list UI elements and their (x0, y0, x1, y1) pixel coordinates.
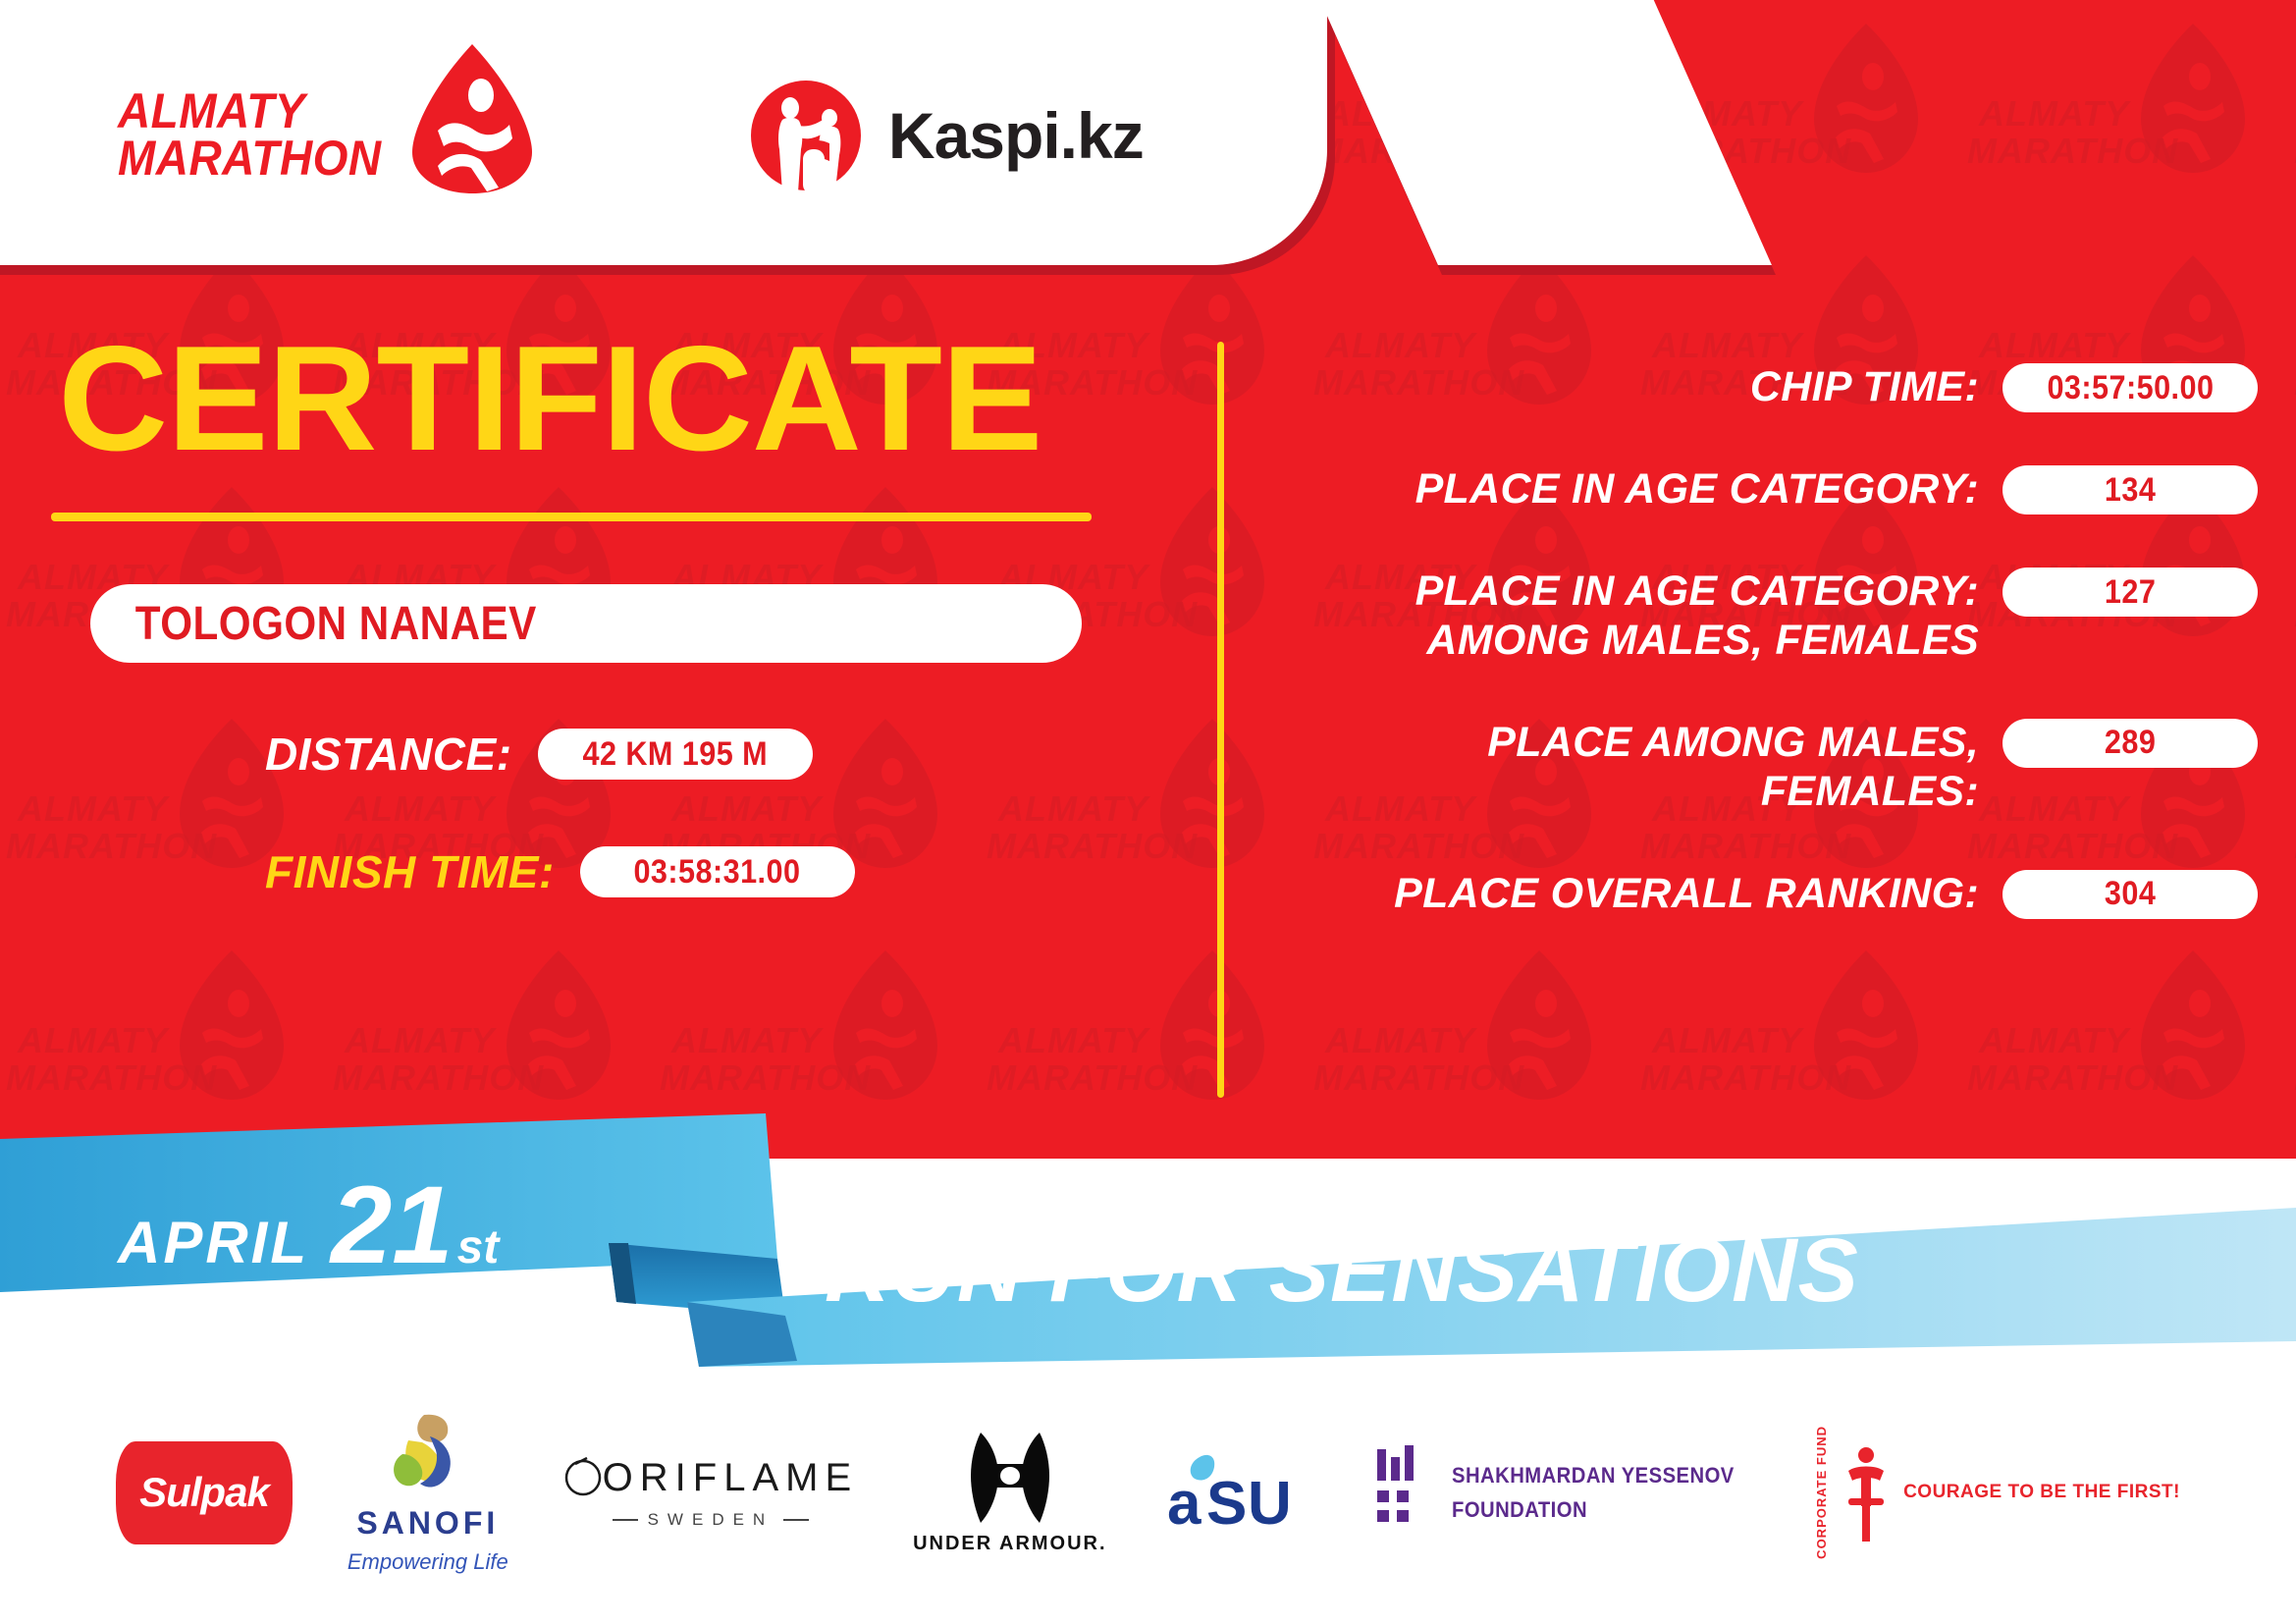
result-row: PLACE IN AGE CATEGORY:AMONG MALES, FEMAL… (1276, 566, 2258, 666)
result-value-pill: 304 (2002, 870, 2258, 919)
sponsor-under-armour: UNDER ARMOUR. (913, 1431, 1106, 1555)
header-logo-bar: ALMATY MARATHON (0, 0, 1276, 270)
event-day: 21 (331, 1170, 454, 1280)
sponsor-sulpak: Sulpak (116, 1441, 293, 1544)
oriflame-dash-left (613, 1519, 638, 1521)
svg-text:S: S (1206, 1470, 1247, 1538)
result-value: 127 (2105, 573, 2156, 612)
finish-time-value-pill: 03:58:31.00 (580, 846, 855, 897)
yessenov-subtext: FOUNDATION (1452, 1492, 1735, 1527)
result-label: PLACE IN AGE CATEGORY: (1276, 463, 2002, 514)
finish-time-row: FINISH TIME: 03:58:31.00 (265, 845, 1207, 898)
event-ribbon: APRIL 21 st RUN FOR SENSATIONS (0, 1110, 2296, 1394)
event-month: APRIL (118, 1209, 309, 1276)
result-value-pill: 03:57:50.00 (2002, 363, 2258, 412)
asu-icon: a S U (1161, 1445, 1318, 1540)
sponsor-sanofi: SANOFI Empowering Life (347, 1411, 508, 1575)
kaspi-logo: Kaspi.kz (747, 77, 1144, 194)
courage-label: COURAGE TO BE THE FIRST! (1903, 1479, 2180, 1507)
event-day-ordinal: st (457, 1220, 500, 1274)
sponsor-bar: Sulpak SANOFI Empowering Life ORIFLAME (0, 1414, 2296, 1571)
sulpak-label: Sulpak (139, 1469, 269, 1516)
certificate-left-column: CERTIFICATE TOLOGON NANAEV DISTANCE: 42 … (0, 324, 1207, 898)
distance-label: DISTANCE: (265, 728, 512, 781)
result-value: 03:57:50.00 (2047, 369, 2214, 407)
participant-name-field: TOLOGON NANAEV (90, 584, 1082, 663)
event-date: APRIL 21 st (118, 1170, 499, 1280)
results-column: CHIP TIME: 03:57:50.00 PLACE IN AGE CATE… (1276, 361, 2258, 970)
result-row: PLACE AMONG MALES,FEMALES: 289 (1276, 717, 2258, 817)
almaty-line: ALMATY (118, 88, 305, 135)
almaty-marathon-logo: ALMATY MARATHON (118, 40, 536, 231)
oriflame-subtext: SWEDEN (648, 1510, 774, 1530)
distance-row: DISTANCE: 42 KM 195 M (265, 728, 1207, 781)
under-armour-label: UNDER ARMOUR. (913, 1533, 1106, 1555)
sponsor-asu: a S U (1161, 1445, 1318, 1540)
certificate-title: CERTIFICATE (0, 324, 1232, 473)
finish-time-label: FINISH TIME: (265, 845, 555, 898)
vertical-yellow-divider (1217, 342, 1224, 1098)
result-value: 304 (2105, 875, 2156, 913)
certificate-page: ALMATY MARATHON ALMATY MARATHON (0, 0, 2296, 1624)
yessenov-lockup: SHAKHMARDAN YESSENOV FOUNDATION (1373, 1445, 1759, 1540)
courage-lockup: CORPORATE FUND COURAGE TO BE THE FIRST! (1814, 1426, 2180, 1559)
almaty-marathon-wordmark: ALMATY MARATHON (118, 88, 404, 182)
oriflame-subtext-wrap: SWEDEN (613, 1510, 810, 1530)
sponsor-oriflame: ORIFLAME SWEDEN (563, 1456, 858, 1530)
distance-value-pill: 42 KM 195 M (538, 729, 813, 780)
sanofi-tagline: Empowering Life (347, 1549, 508, 1575)
sanofi-mark-icon (379, 1411, 477, 1495)
result-value-pill: 134 (2002, 465, 2258, 514)
kaspi-wordmark: Kaspi.kz (888, 98, 1144, 173)
sponsor-courage: CORPORATE FUND COURAGE TO BE THE FIRST! (1814, 1426, 2180, 1559)
sulpak-badge: Sulpak (116, 1441, 293, 1544)
result-value-pill: 289 (2002, 719, 2258, 768)
runner-teardrop-icon (408, 40, 536, 197)
result-value: 289 (2105, 724, 2156, 762)
sponsor-yessenov: SHAKHMARDAN YESSENOV FOUNDATION (1373, 1445, 1759, 1540)
yessenov-mark-icon (1373, 1445, 1434, 1540)
result-value-pill: 127 (2002, 568, 2258, 617)
event-slogan: RUN FOR SENSATIONS (825, 1219, 1859, 1323)
oriflame-o-icon (563, 1456, 603, 1499)
distance-value: 42 KM 195 M (582, 735, 768, 774)
participant-name-value: TOLOGON NANAEV (90, 597, 537, 651)
title-underline (51, 513, 1092, 521)
marathon-line: MARATHON (118, 135, 382, 183)
result-row: PLACE OVERALL RANKING: 304 (1276, 868, 2258, 919)
yessenov-label-wrap: SHAKHMARDAN YESSENOV FOUNDATION (1452, 1458, 1759, 1527)
under-armour-icon (951, 1431, 1069, 1525)
result-row: PLACE IN AGE CATEGORY: 134 (1276, 463, 2258, 514)
courage-corporate-fund-label: CORPORATE FUND (1814, 1426, 1829, 1559)
result-value: 134 (2105, 471, 2156, 510)
courage-torch-icon (1839, 1441, 1894, 1543)
oriflame-label: ORIFLAME (603, 1456, 858, 1500)
result-label: PLACE AMONG MALES,FEMALES: (1276, 717, 2002, 817)
oriflame-dash-right (783, 1519, 809, 1521)
yessenov-label: SHAKHMARDAN YESSENOV (1452, 1458, 1735, 1492)
result-label: PLACE IN AGE CATEGORY:AMONG MALES, FEMAL… (1276, 566, 2002, 666)
result-label: PLACE OVERALL RANKING: (1276, 868, 2002, 919)
svg-text:U: U (1248, 1470, 1292, 1538)
svg-text:a: a (1167, 1470, 1201, 1538)
finish-time-value: 03:58:31.00 (634, 853, 801, 892)
sanofi-label: SANOFI (356, 1505, 499, 1542)
result-row: CHIP TIME: 03:57:50.00 (1276, 361, 2258, 412)
result-label: CHIP TIME: (1276, 361, 2002, 412)
kaspi-people-icon (747, 77, 865, 194)
